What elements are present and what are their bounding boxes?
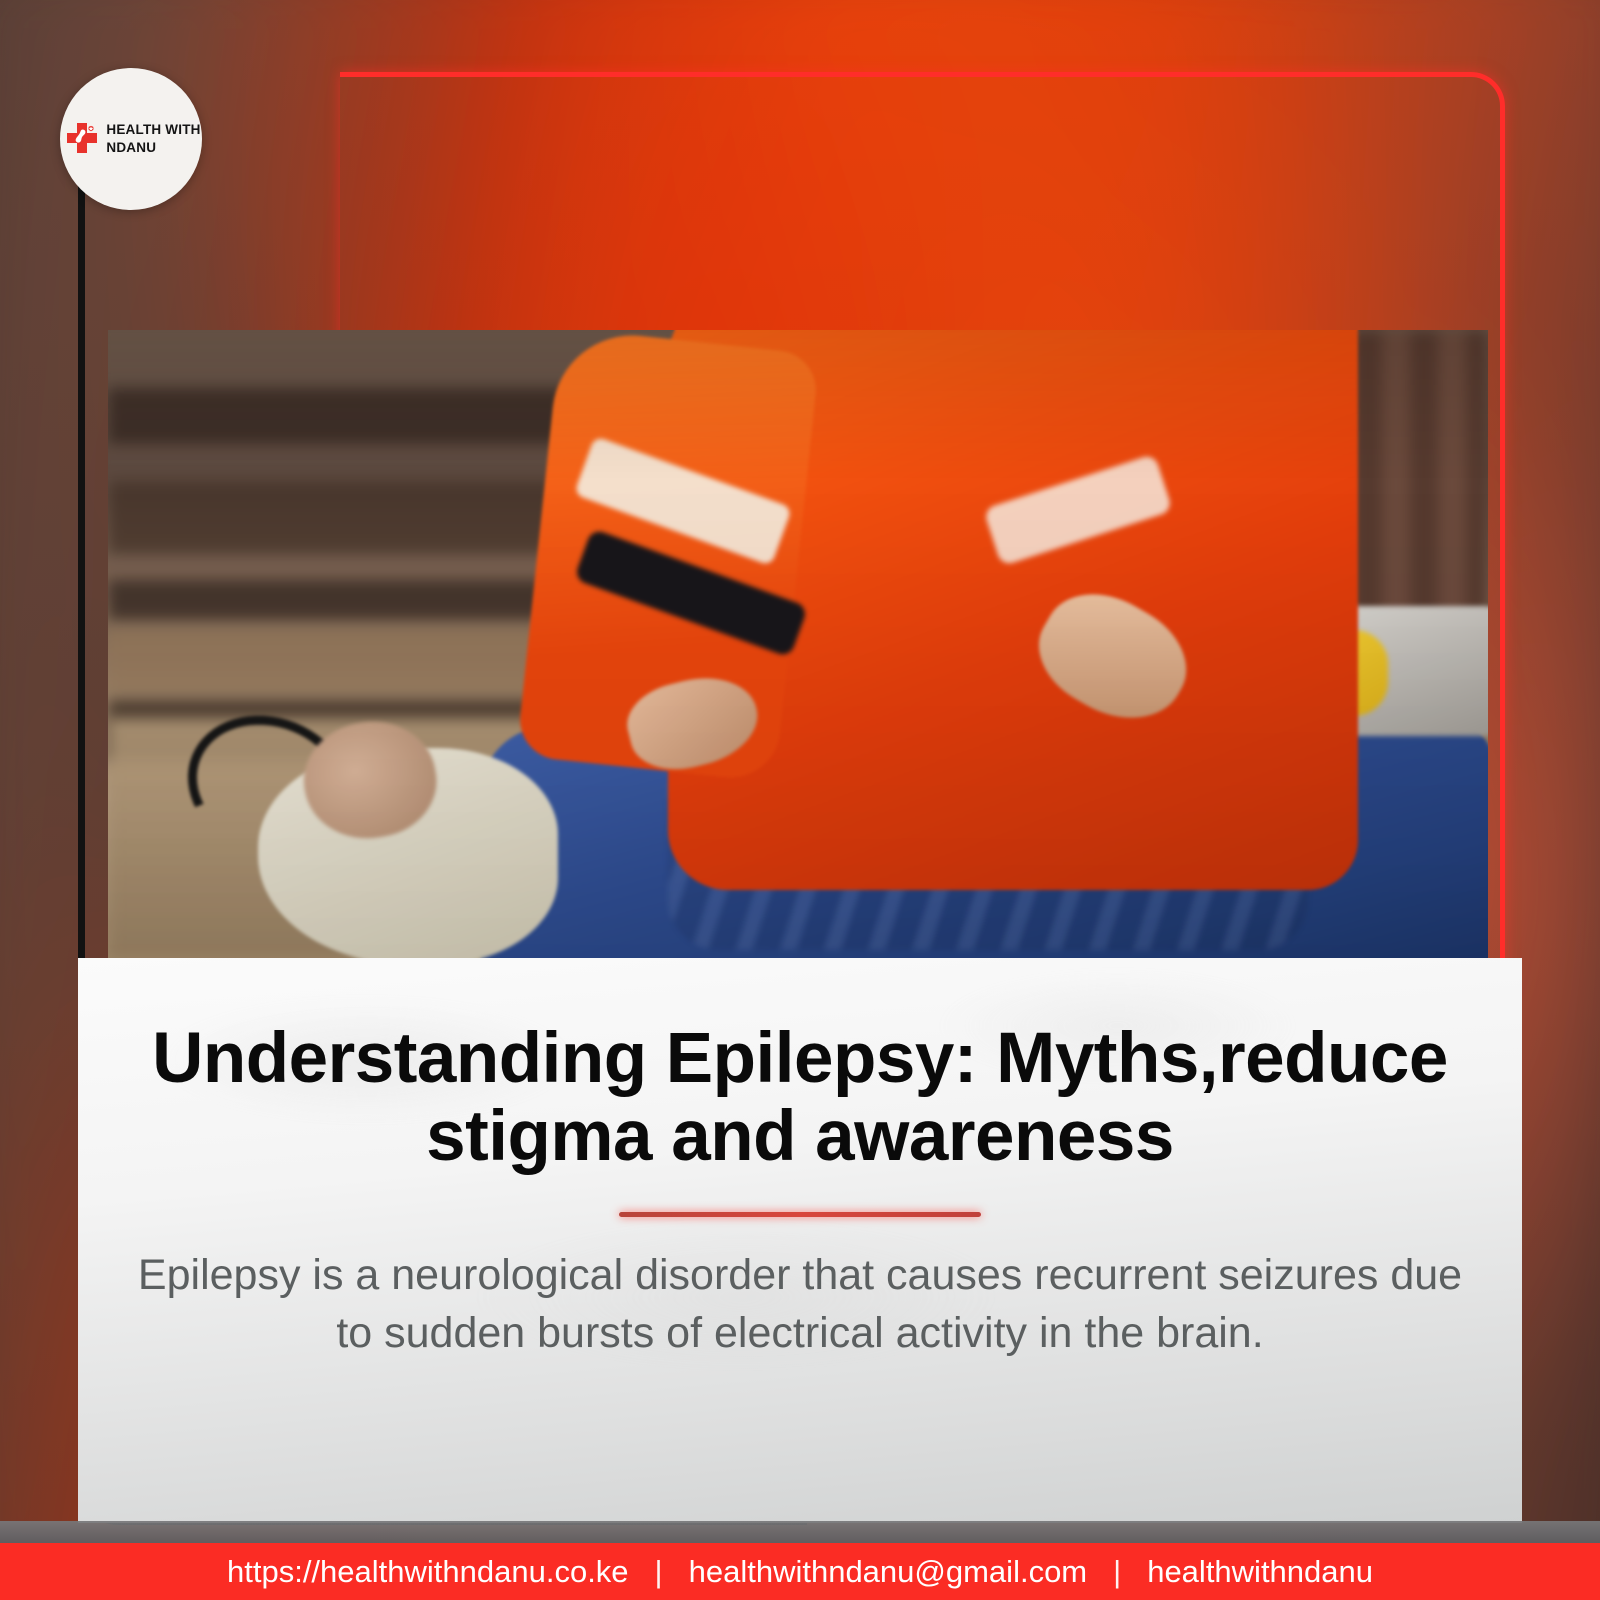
- brand-logo-line1: HEALTH WITH: [106, 122, 200, 137]
- hero-photo: [108, 330, 1488, 958]
- page-subtitle: Epilepsy is a neurological disorder that…: [126, 1247, 1474, 1362]
- footer-top-strip: [0, 1521, 1600, 1543]
- page-title: Understanding Epilepsy: Myths,reduce sti…: [126, 958, 1474, 1176]
- title-divider: [619, 1212, 981, 1217]
- footer-bar: https://healthwithndanu.co.ke | healthwi…: [0, 1543, 1600, 1600]
- footer-email-link[interactable]: healthwithndanu@gmail.com: [689, 1554, 1088, 1590]
- brand-logo-text: HEALTH WITH NDANU: [106, 121, 200, 157]
- footer-social-handle[interactable]: healthwithndanu: [1147, 1554, 1373, 1590]
- medical-cross-icon: [65, 122, 99, 156]
- photo-shading-overlay: [108, 330, 1488, 958]
- footer-separator-1: |: [629, 1554, 689, 1590]
- brand-logo-line2: NDANU: [106, 140, 156, 155]
- footer-website-link[interactable]: https://healthwithndanu.co.ke: [227, 1554, 629, 1590]
- brand-logo-badge[interactable]: HEALTH WITH NDANU: [60, 68, 202, 210]
- footer-separator-2: |: [1087, 1554, 1147, 1590]
- photo-scene: [108, 330, 1488, 958]
- content-card: Understanding Epilepsy: Myths,reduce sti…: [78, 958, 1522, 1523]
